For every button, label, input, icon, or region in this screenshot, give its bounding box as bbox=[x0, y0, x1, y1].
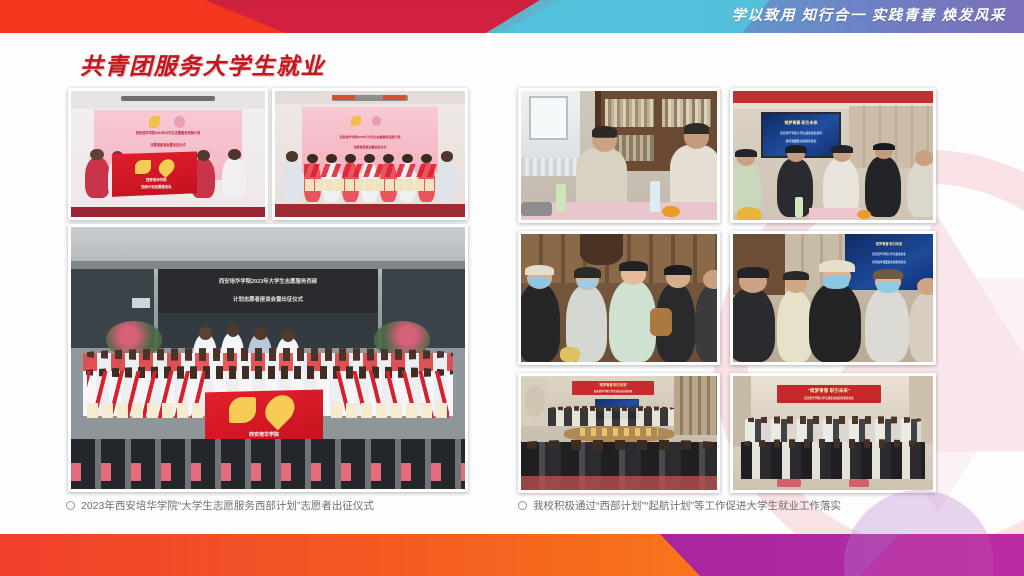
slide-canvas: 学以致用 知行合一 实践青春 焕发风采 共青团服务大学生就业 西安培华学院202… bbox=[0, 0, 1024, 576]
caption-left-text: 2023年西安培华学院“大学生志愿服务西部计划”志愿者出征仪式 bbox=[81, 498, 374, 513]
photo-departure-ceremony-group: 西安培华学院2023年大学生志愿服务西部 计划志愿者座谈会暨出征仪式 bbox=[68, 224, 468, 492]
photo-audience-with-screen: 筑梦青春 职引未来 西安培华学院大学生就业创业 系列指导课暨就业政策宣讲会 bbox=[730, 231, 936, 365]
caption-bullet-icon bbox=[66, 501, 75, 510]
page-title: 共青团服务大学生就业 bbox=[80, 47, 325, 81]
caption-left: 2023年西安培华学院“大学生志愿服务西部计划”志愿者出征仪式 bbox=[66, 498, 374, 513]
caption-bullet-icon bbox=[518, 501, 527, 510]
photo-library-discussion bbox=[518, 88, 720, 223]
photo-roundtable-forum: "筑梦青春 职引未来" 西安培华学院大学生就业创业指导课 bbox=[518, 373, 720, 493]
header-slogan: 学以致用 知行合一 实践青春 焕发风采 bbox=[732, 0, 1006, 33]
photo-students-audience-masked bbox=[518, 231, 720, 365]
photo-seminar-blue-screen: 筑梦青春 职引未来 西安培华学院大学生就业创业系列 指导课暨就业政策宣讲会 bbox=[730, 88, 936, 223]
bottom-banner bbox=[0, 534, 1024, 576]
photo-certificate-group: 西安培华学院2023年大学生志愿服务西部计划 志愿者座谈会暨出征仪式 bbox=[272, 88, 468, 220]
top-banner: 学以致用 知行合一 实践青春 焕发风采 bbox=[0, 0, 1024, 33]
photo-flag-handover-ceremony: 西安培华学院2023年大学生志愿服务西部计划 志愿者座谈会暨出征仪式 西安培华学… bbox=[68, 88, 268, 220]
caption-right-text: 我校积极通过“西部计划”“起航计划”等工作促进大学生就业工作落实 bbox=[533, 498, 841, 513]
caption-right: 我校积极通过“西部计划”“起航计划”等工作促进大学生就业工作落实 bbox=[518, 498, 841, 513]
photo-career-event-group: "筑梦青春 职引未来" 西安培华学院大学生就业创业指导课宣讲会 bbox=[730, 373, 936, 493]
